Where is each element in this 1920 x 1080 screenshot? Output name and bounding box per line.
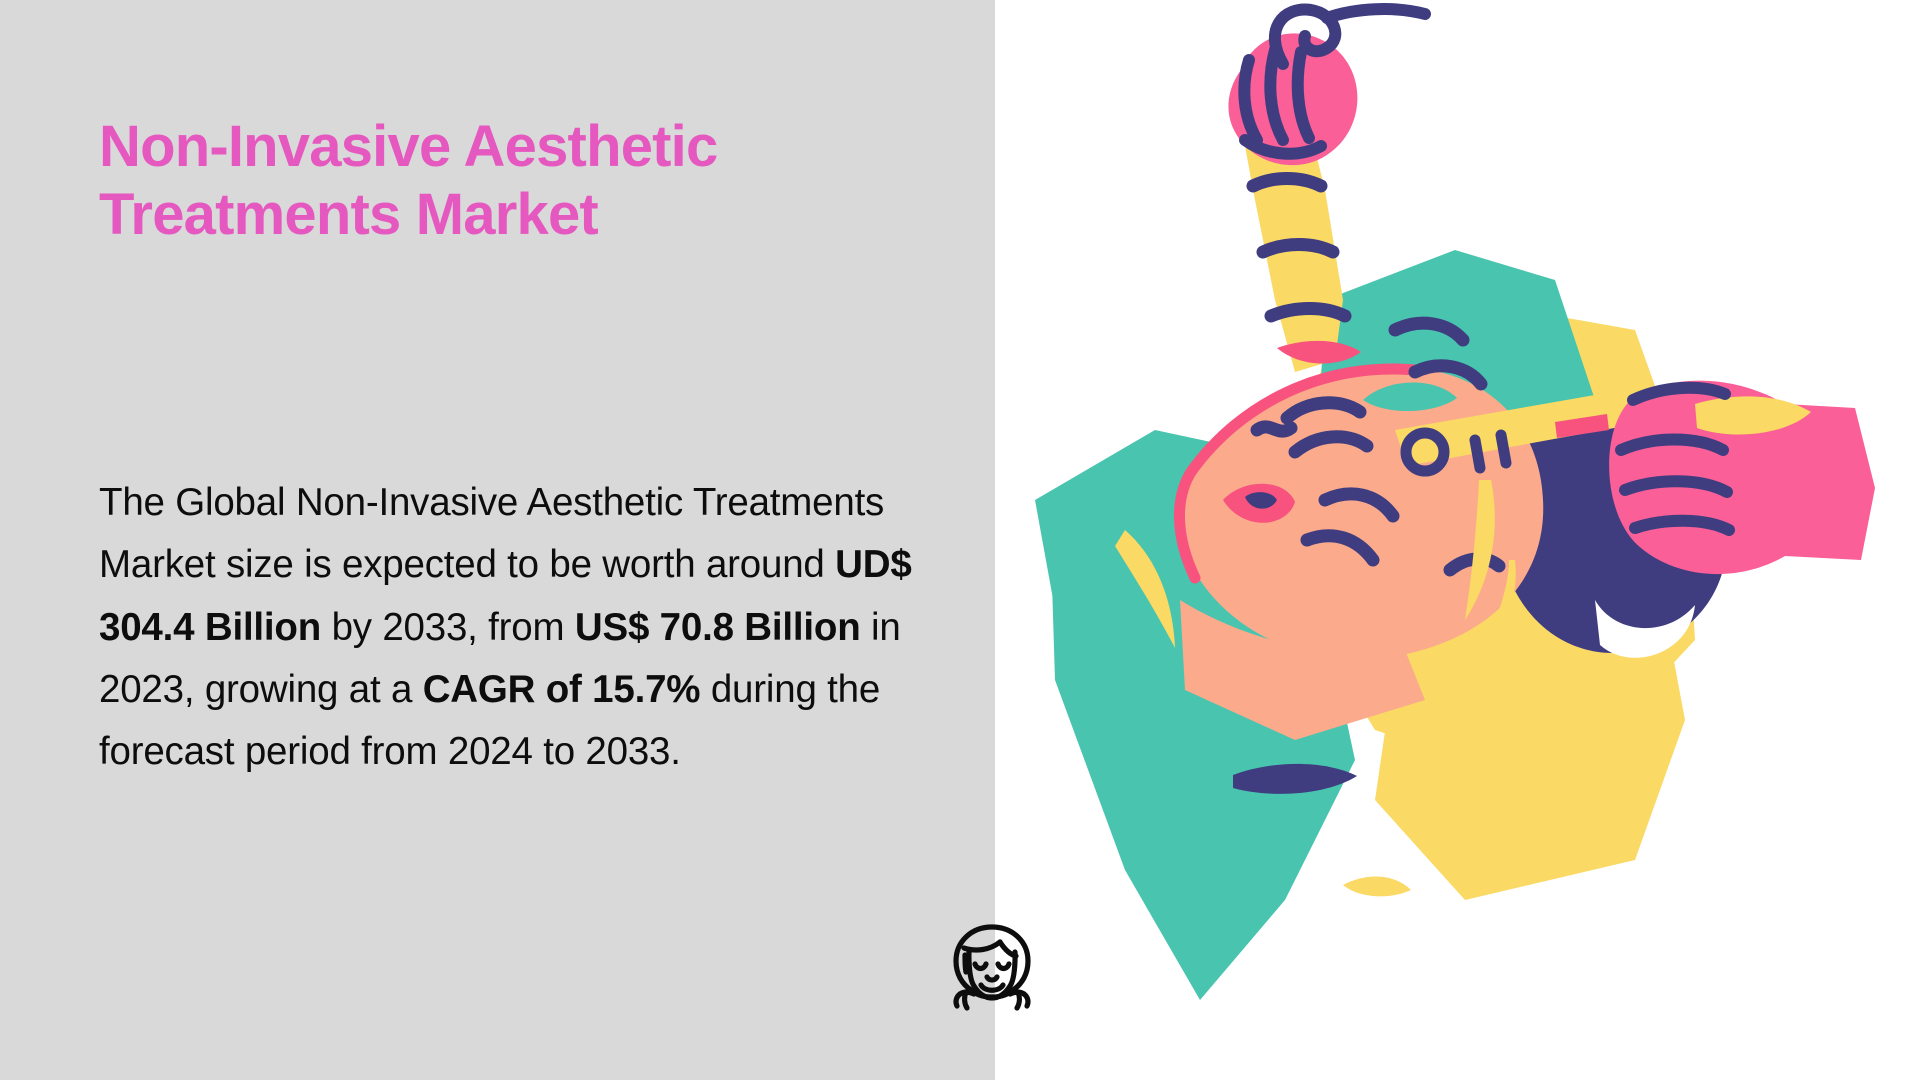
summary-base-value: US$ 70.8 Billion — [575, 606, 861, 649]
market-summary-paragraph: The Global Non-Invasive Aesthetic Treatm… — [99, 472, 914, 784]
applicator-tick-1 — [1475, 440, 1480, 468]
summary-cagr-value: CAGR of 15.7% — [423, 668, 701, 711]
applicator-tick-2 — [1501, 435, 1506, 463]
device-cord-line — [1327, 9, 1425, 18]
wand-ring-3 — [1271, 309, 1345, 317]
page-title: Non-Invasive Aesthetic Treatments Market — [99, 113, 919, 250]
facial-treatment-illustration — [995, 0, 1920, 1080]
page-title-line-1: Non-Invasive Aesthetic — [99, 114, 717, 179]
summary-text-by-year: by 2033, from — [321, 606, 575, 649]
nose-squiggle-line — [1257, 427, 1291, 431]
infographic-page: Non-Invasive Aesthetic Treatments Market… — [0, 0, 1920, 1080]
wand-ring-2 — [1263, 245, 1333, 253]
wand-ring-1 — [1253, 179, 1321, 187]
left-text-panel: Non-Invasive Aesthetic Treatments Market… — [0, 0, 995, 1080]
summary-text-intro: The Global Non-Invasive Aesthetic Treatm… — [99, 481, 884, 586]
page-title-line-2: Treatments Market — [99, 182, 598, 247]
robe-yellow-stripe-lower — [1343, 876, 1411, 896]
